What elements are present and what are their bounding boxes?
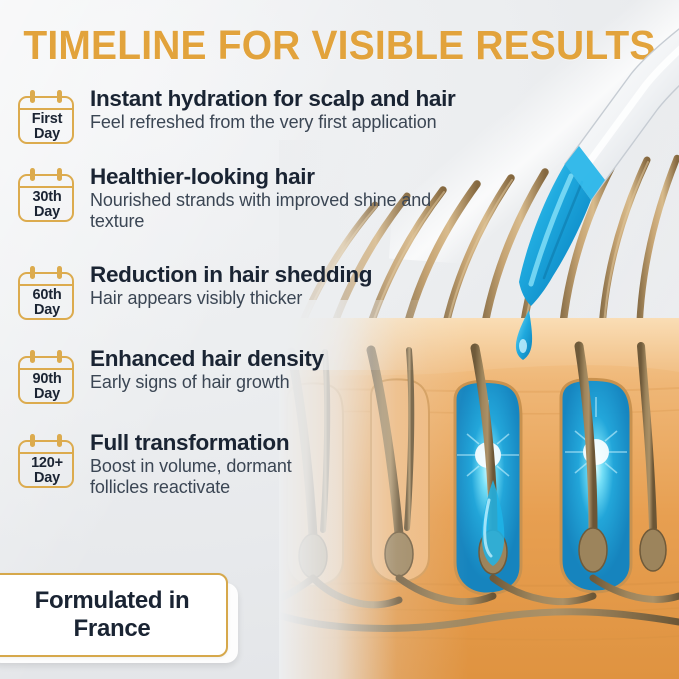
timeline-text: Instant hydration for scalp and hair Fee… bbox=[90, 84, 456, 133]
calendar-tab-right bbox=[57, 266, 62, 279]
calendar-label-line1: 90th bbox=[32, 372, 61, 387]
calendar-tab-left bbox=[30, 168, 35, 181]
timeline-list: First Day Instant hydration for scalp an… bbox=[16, 84, 486, 522]
calendar-tab-left bbox=[30, 434, 35, 447]
timeline-item-60th-day: 60th Day Reduction in hair shedding Hair… bbox=[16, 260, 486, 336]
timeline-heading: Full transformation bbox=[90, 430, 350, 455]
calendar-tab-right bbox=[57, 434, 62, 447]
calendar-label: First Day bbox=[16, 110, 78, 144]
calendar-tab-left bbox=[30, 266, 35, 279]
calendar-label: 60th Day bbox=[16, 286, 78, 320]
timeline-heading: Enhanced hair density bbox=[90, 346, 324, 371]
calendar-label: 30th Day bbox=[16, 188, 78, 222]
timeline-item-30th-day: 30th Day Healthier-looking hair Nourishe… bbox=[16, 162, 486, 252]
timeline-subtext: Early signs of hair growth bbox=[90, 372, 324, 393]
calendar-tab-left bbox=[30, 350, 35, 363]
calendar-icon: 90th Day bbox=[16, 348, 78, 406]
calendar-tab-right bbox=[57, 90, 62, 103]
formulated-in-france-badge: Formulated in France bbox=[0, 573, 228, 657]
calendar-tab-right bbox=[57, 350, 62, 363]
infographic-poster: TIMELINE FOR VISIBLE RESULTS First Day I… bbox=[0, 0, 679, 679]
badge-label: Formulated in France bbox=[0, 587, 226, 643]
calendar-tab-left bbox=[30, 90, 35, 103]
calendar-icon: 60th Day bbox=[16, 264, 78, 322]
timeline-subtext: Nourished strands with improved shine an… bbox=[90, 190, 462, 232]
formulated-badge-wrapper: Formulated in France bbox=[0, 573, 228, 657]
timeline-text: Full transformation Boost in volume, dor… bbox=[90, 428, 350, 498]
timeline-heading: Instant hydration for scalp and hair bbox=[90, 86, 456, 111]
calendar-icon: First Day bbox=[16, 88, 78, 146]
calendar-label-line1: First bbox=[32, 112, 62, 127]
timeline-text: Reduction in hair shedding Hair appears … bbox=[90, 260, 372, 309]
calendar-label-line2: Day bbox=[34, 303, 60, 318]
calendar-label-line2: Day bbox=[34, 471, 60, 486]
calendar-label-line2: Day bbox=[34, 387, 60, 402]
timeline-item-first-day: First Day Instant hydration for scalp an… bbox=[16, 84, 486, 154]
calendar-label: 120+ Day bbox=[16, 454, 78, 488]
timeline-subtext: Hair appears visibly thicker bbox=[90, 288, 372, 309]
timeline-heading: Reduction in hair shedding bbox=[90, 262, 372, 287]
calendar-tab-right bbox=[57, 168, 62, 181]
calendar-label-line2: Day bbox=[34, 127, 60, 142]
timeline-item-90th-day: 90th Day Enhanced hair density Early sig… bbox=[16, 344, 486, 420]
timeline-text: Healthier-looking hair Nourished strands… bbox=[90, 162, 462, 232]
timeline-subtext: Feel refreshed from the very first appli… bbox=[90, 112, 456, 133]
timeline-heading: Healthier-looking hair bbox=[90, 164, 462, 189]
dropper-tip bbox=[519, 14, 679, 306]
calendar-label-line1: 120+ bbox=[31, 456, 63, 471]
calendar-label-line1: 60th bbox=[32, 288, 61, 303]
calendar-label: 90th Day bbox=[16, 370, 78, 404]
timeline-subtext: Boost in volume, dormant follicles react… bbox=[90, 456, 350, 498]
timeline-item-120-day: 120+ Day Full transformation Boost in vo… bbox=[16, 428, 486, 514]
calendar-label-line2: Day bbox=[34, 205, 60, 220]
timeline-text: Enhanced hair density Early signs of hai… bbox=[90, 344, 324, 393]
calendar-icon: 120+ Day bbox=[16, 432, 78, 490]
calendar-label-line1: 30th bbox=[32, 190, 61, 205]
calendar-icon: 30th Day bbox=[16, 166, 78, 224]
